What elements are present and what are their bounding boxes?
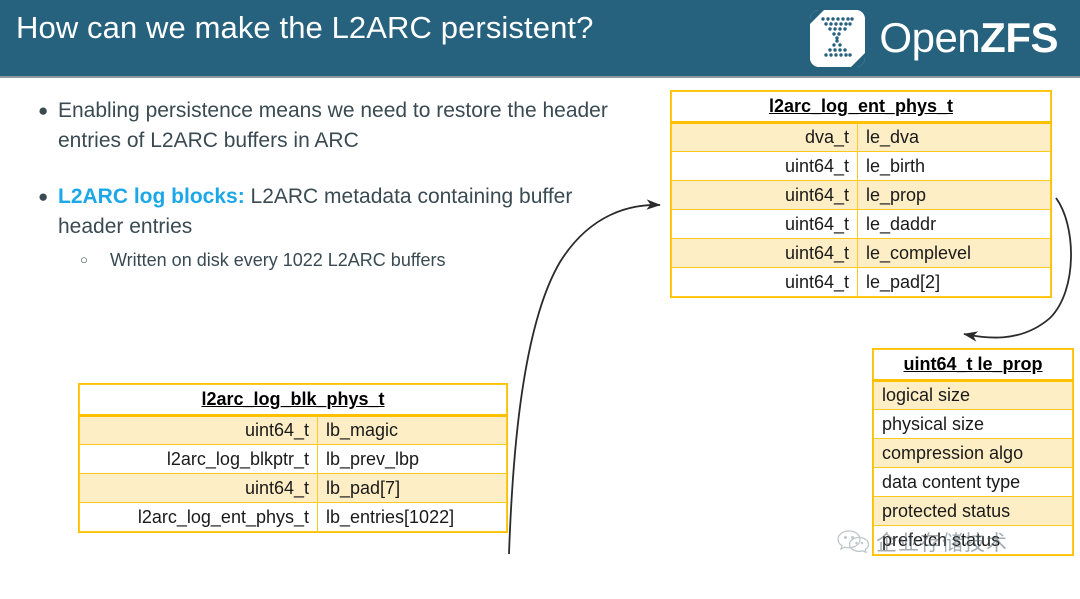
field-type: dva_t — [672, 123, 858, 152]
field-type: uint64_t — [672, 210, 858, 239]
sub-bullet-text: Written on disk every 1022 L2ARC buffers — [110, 246, 446, 274]
openzfs-word-zfs: ZFS — [980, 14, 1058, 61]
openzfs-word-open: Open — [879, 14, 980, 61]
table-header-row: l2arc_log_ent_phys_t — [672, 92, 1051, 123]
field-name: logical size — [874, 381, 1073, 410]
table-row: physical size — [874, 410, 1073, 439]
openzfs-hourglass-mark-icon — [810, 10, 865, 67]
struct-table-title: uint64_t le_prop — [874, 350, 1073, 381]
field-type: uint64_t — [672, 181, 858, 210]
openzfs-wordmark: OpenZFS — [879, 17, 1058, 59]
bullet-list: ● Enabling persistence means we need to … — [36, 96, 636, 274]
sub-bullet-item: ○ Written on disk every 1022 L2ARC buffe… — [80, 246, 636, 274]
field-name: physical size — [874, 410, 1073, 439]
table-row: uint64_t le_birth — [672, 152, 1051, 181]
struct-table-le-prop: uint64_t le_prop logical size physical s… — [872, 348, 1074, 556]
bullet-item: ● Enabling persistence means we need to … — [36, 96, 636, 156]
field-name: data content type — [874, 468, 1073, 497]
table-row: logical size — [874, 381, 1073, 410]
field-name: le_prop — [858, 181, 1051, 210]
field-name: lb_entries[1022] — [318, 503, 507, 532]
field-type: uint64_t — [672, 268, 858, 297]
struct-table-log-blk-phys: l2arc_log_blk_phys_t uint64_t lb_magic l… — [78, 383, 508, 533]
bullet-dot-icon: ● — [36, 182, 58, 212]
table-row: uint64_t le_complevel — [672, 239, 1051, 268]
table-row: l2arc_log_blkptr_t lb_prev_lbp — [80, 445, 507, 474]
table-row: uint64_t le_daddr — [672, 210, 1051, 239]
bullet-lead-emphasis: L2ARC log blocks: — [58, 185, 245, 208]
table-header-row: uint64_t le_prop — [874, 350, 1073, 381]
table-row: protected status — [874, 497, 1073, 526]
page-title: How can we make the L2ARC persistent? — [16, 10, 593, 46]
struct-table-title: l2arc_log_blk_phys_t — [80, 385, 507, 416]
field-name: le_birth — [858, 152, 1051, 181]
field-type: uint64_t — [672, 239, 858, 268]
field-type: uint64_t — [80, 474, 318, 503]
table-row: uint64_t lb_magic — [80, 416, 507, 445]
bullet-item: ● L2ARC log blocks: L2ARC metadata conta… — [36, 182, 636, 274]
field-type: uint64_t — [672, 152, 858, 181]
sub-bullet-dot-icon: ○ — [80, 246, 110, 274]
field-type: l2arc_log_blkptr_t — [80, 445, 318, 474]
table-row: l2arc_log_ent_phys_t lb_entries[1022] — [80, 503, 507, 532]
table-row: uint64_t le_prop — [672, 181, 1051, 210]
table-row: dva_t le_dva — [672, 123, 1051, 152]
table-row: prefetch status — [874, 526, 1073, 555]
bullet-dot-icon: ● — [36, 96, 58, 126]
field-type: uint64_t — [80, 416, 318, 445]
field-type: l2arc_log_ent_phys_t — [80, 503, 318, 532]
field-name: lb_magic — [318, 416, 507, 445]
field-name: le_complevel — [858, 239, 1051, 268]
field-name: lb_prev_lbp — [318, 445, 507, 474]
struct-table-title: l2arc_log_ent_phys_t — [672, 92, 1051, 123]
field-name: prefetch status — [874, 526, 1073, 555]
field-name: le_daddr — [858, 210, 1051, 239]
bullet-text: Enabling persistence means we need to re… — [58, 96, 636, 156]
field-name: compression algo — [874, 439, 1073, 468]
table-row: uint64_t lb_pad[7] — [80, 474, 507, 503]
struct-table-log-ent-phys: l2arc_log_ent_phys_t dva_t le_dva uint64… — [670, 90, 1052, 298]
table-row: uint64_t le_pad[2] — [672, 268, 1051, 297]
table-row: data content type — [874, 468, 1073, 497]
table-row: compression algo — [874, 439, 1073, 468]
field-name: protected status — [874, 497, 1073, 526]
wechat-icon — [836, 528, 870, 556]
bullet-text: L2ARC log blocks: L2ARC metadata contain… — [58, 182, 636, 242]
openzfs-logo: OpenZFS — [810, 6, 1058, 70]
field-name: le_dva — [858, 123, 1051, 152]
table-header-row: l2arc_log_blk_phys_t — [80, 385, 507, 416]
field-name: lb_pad[7] — [318, 474, 507, 503]
field-name: le_pad[2] — [858, 268, 1051, 297]
